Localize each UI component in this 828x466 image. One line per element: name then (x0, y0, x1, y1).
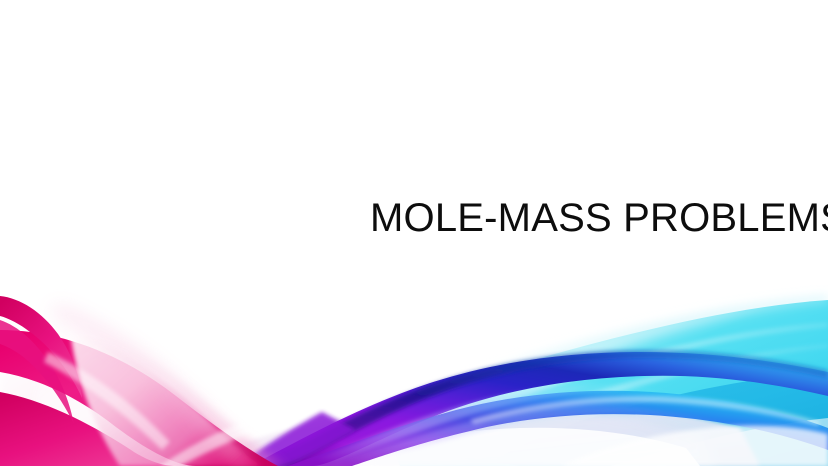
lavender-wash-group (180, 403, 760, 466)
ribbon-sheen-1 (300, 383, 706, 466)
lavender-wash-1 (300, 403, 760, 466)
cyan-wave-upper-veil (405, 296, 828, 436)
light-veil-right (560, 425, 828, 466)
cyan-striation-1 (412, 322, 828, 442)
pink-ribbon-tip (0, 296, 82, 398)
slide-title[interactable]: MOLE-MASS PROBLEMS (370, 196, 790, 240)
pink-wave-main (0, 330, 278, 466)
lavender-pink-tint (180, 416, 380, 466)
ribbon-violet-tail (236, 412, 356, 466)
cyan-tail-highlight (610, 418, 828, 466)
title-placeholder[interactable]: MOLE-MASS PROBLEMS (370, 196, 790, 240)
cyan-wave-group (380, 296, 828, 466)
blue-purple-ribbon-main (250, 352, 828, 466)
cyan-striation-2 (436, 344, 828, 462)
pink-outer-halo (48, 306, 256, 466)
top-light-veils (160, 404, 828, 466)
lavender-wash-2 (260, 408, 716, 466)
pink-wave-floor (0, 392, 176, 466)
blue-purple-ribbon-lower (288, 391, 828, 466)
ribbon-sheen-2 (330, 405, 702, 466)
ribbon-specular-highlight (470, 396, 820, 426)
pink-inner-glow (33, 322, 268, 466)
pink-sheet-overlay (70, 330, 262, 466)
cyan-wave-main (380, 300, 828, 466)
cyan-wave-deep-band (492, 372, 828, 466)
pink-specular-highlight (44, 352, 170, 450)
pink-veil (0, 318, 286, 466)
blue-purple-ribbon-group (236, 350, 828, 466)
lavender-highlight (330, 428, 700, 466)
blue-purple-ribbon-crest (262, 350, 828, 466)
pink-ribbon-blade (0, 320, 74, 424)
pink-wave-group (0, 296, 286, 466)
presentation-slide: MOLE-MASS PROBLEMS (0, 0, 828, 466)
light-veil-left (160, 404, 310, 466)
